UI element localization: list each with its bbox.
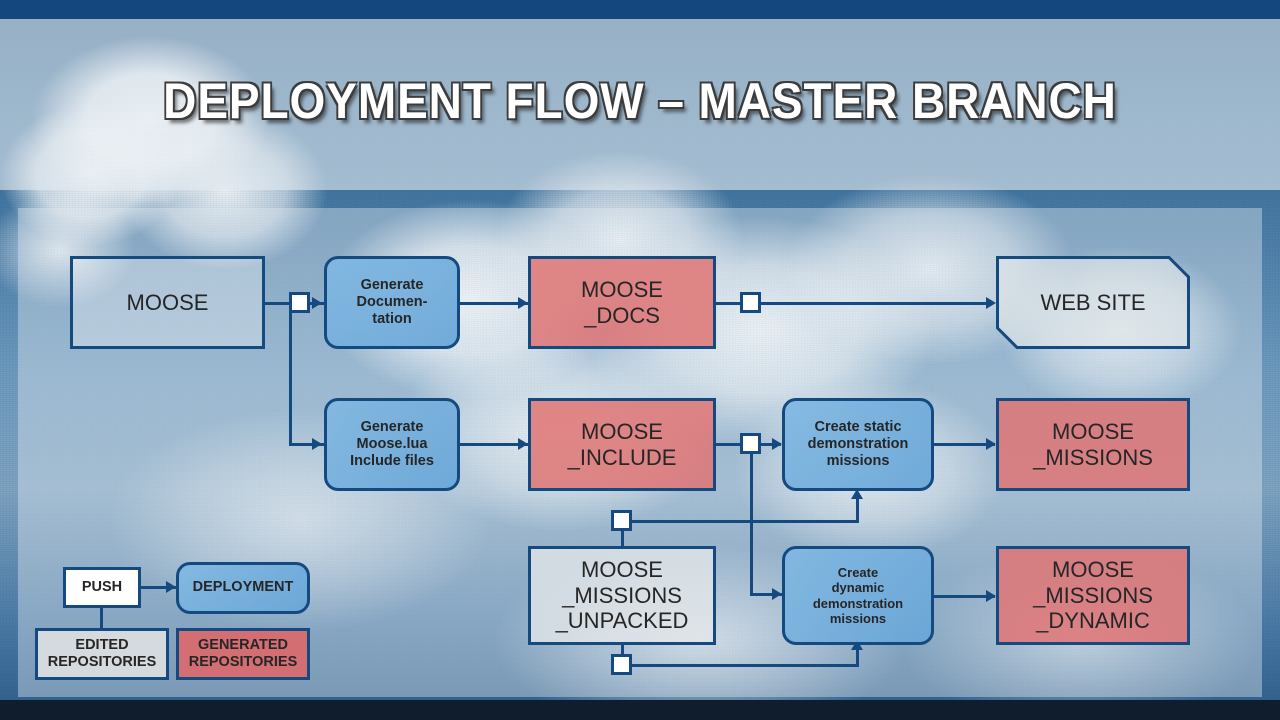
connector-knob4-right <box>632 520 859 523</box>
legend-generated-repositories[interactable]: GENERATED REPOSITORIES <box>176 628 310 680</box>
node-moose-missions-unpacked-label: MOOSE _MISSIONS _UNPACKED <box>556 557 689 635</box>
legend-edited-repositories[interactable]: EDITED REPOSITORIES <box>35 628 169 680</box>
arrowhead-to-generate-include <box>312 438 322 450</box>
legend-deployment-label: DEPLOYMENT <box>193 579 294 596</box>
node-generate-include[interactable]: Generate Moose.lua Include files <box>324 398 460 491</box>
node-moose-docs[interactable]: MOOSE _DOCS <box>528 256 716 349</box>
arrowhead-to-create-static <box>772 438 782 450</box>
node-moose-missions-label: MOOSE _MISSIONS <box>1033 419 1153 471</box>
knob-connector-unpacked-upper[interactable] <box>611 510 632 531</box>
node-moose-include[interactable]: MOOSE _INCLUDE <box>528 398 716 491</box>
connector-knob-down-branch <box>289 313 292 445</box>
connector-unpacked-up-stub <box>621 531 624 547</box>
slide-title: DEPLOYMENT FLOW – MASTER BRANCH <box>51 72 1229 130</box>
node-moose-missions-dynamic[interactable]: MOOSE _MISSIONS _DYNAMIC <box>996 546 1190 645</box>
top-accent-band <box>0 0 1280 19</box>
bottom-accent-band <box>0 700 1280 720</box>
node-moose-docs-label: MOOSE _DOCS <box>581 277 663 329</box>
node-web-site-label: WEB SITE <box>1040 290 1145 316</box>
node-moose-label: MOOSE <box>127 290 209 316</box>
connector-knob-down-to-dynamic <box>750 454 753 595</box>
node-generate-include-label: Generate Moose.lua Include files <box>350 419 434 470</box>
node-moose-missions[interactable]: MOOSE _MISSIONS <box>996 398 1190 491</box>
arrowhead-to-create-dynamic <box>772 588 782 600</box>
legend-deployment[interactable]: DEPLOYMENT <box>176 562 310 614</box>
arrowhead-to-moose-missions <box>986 438 996 450</box>
arrowhead-to-generate-docs <box>312 297 322 309</box>
knob-connector-moose-branch[interactable] <box>289 292 310 313</box>
node-moose-missions-unpacked[interactable]: MOOSE _MISSIONS _UNPACKED <box>528 546 716 645</box>
knob-connector-include-branch[interactable] <box>740 433 761 454</box>
node-moose-include-label: MOOSE _INCLUDE <box>568 419 677 471</box>
legend-generated-repositories-label: GENERATED REPOSITORIES <box>189 637 298 671</box>
node-moose-missions-dynamic-label: MOOSE _MISSIONS _DYNAMIC <box>1033 557 1153 635</box>
node-create-static-missions-label: Create static demonstration missions <box>808 419 909 470</box>
connector-up-into-create-static <box>856 498 859 522</box>
knob-connector-docs-to-site[interactable] <box>740 292 761 313</box>
connector-knob-to-web-site <box>761 302 993 305</box>
knob-connector-unpacked-lower[interactable] <box>611 654 632 675</box>
arrowhead-to-moose-docs <box>518 297 528 309</box>
node-moose[interactable]: MOOSE <box>70 256 265 349</box>
arrowhead-to-moose-missions-dynamic <box>986 590 996 602</box>
node-generate-documentation-label: Generate Documen- tation <box>357 277 428 328</box>
arrowhead-to-moose-include <box>518 438 528 450</box>
connector-up-into-create-dynamic <box>856 648 859 666</box>
connector-moose-docs-to-knob <box>715 302 743 305</box>
node-create-static-missions[interactable]: Create static demonstration missions <box>782 398 934 491</box>
connector-moose-include-to-knob <box>715 443 743 446</box>
legend-arrowhead-deployment <box>166 581 176 593</box>
node-generate-documentation[interactable]: Generate Documen- tation <box>324 256 460 349</box>
arrowhead-to-web-site <box>986 297 996 309</box>
connector-moose-to-knob <box>265 302 292 305</box>
legend-edited-repositories-label: EDITED REPOSITORIES <box>48 637 157 671</box>
node-web-site[interactable]: WEB SITE <box>996 256 1190 349</box>
node-create-dynamic-missions-label: Create dynamic demonstration missions <box>813 565 903 626</box>
slide-root: DEPLOYMENT FLOW – MASTER BRANCH <box>0 0 1280 720</box>
connector-knob5-right <box>632 664 859 667</box>
legend-connector-push-to-edited <box>100 608 103 630</box>
legend-push-label: PUSH <box>82 579 122 596</box>
legend-push[interactable]: PUSH <box>63 567 141 608</box>
node-create-dynamic-missions[interactable]: Create dynamic demonstration missions <box>782 546 934 645</box>
